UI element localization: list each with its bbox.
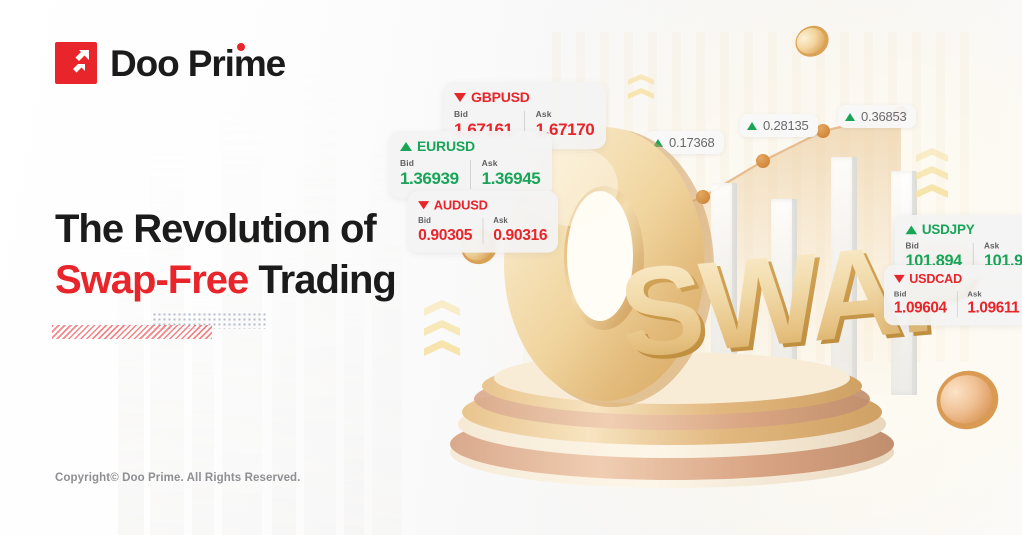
chart-value-pill: 0.36853 bbox=[838, 105, 916, 128]
bid-label: Bid bbox=[454, 109, 513, 120]
quote-bid: Bid 1.36939 bbox=[400, 158, 459, 189]
trend-down-icon bbox=[454, 93, 466, 102]
ask-value: 1.09611 bbox=[967, 299, 1019, 317]
chart-marker bbox=[816, 124, 830, 138]
bid-label: Bid bbox=[894, 289, 947, 299]
bid-value: 0.90305 bbox=[418, 226, 472, 244]
trend-up-icon bbox=[845, 113, 855, 121]
quote-symbol: GBPUSD bbox=[471, 89, 530, 105]
headline-highlight: Swap-Free bbox=[55, 258, 248, 302]
quote-card-eurusd[interactable]: EURUSD Bid 1.36939 Ask 1.36945 bbox=[389, 131, 552, 198]
logo-accent-dot bbox=[237, 43, 245, 51]
brand-name: Doo Prime bbox=[110, 43, 285, 84]
quote-ask: Ask 1.09611 bbox=[967, 289, 1019, 317]
quote-symbol-row: USDCAD bbox=[894, 271, 1019, 285]
chart-column bbox=[591, 203, 617, 395]
quote-symbol: EURUSD bbox=[417, 138, 475, 154]
ask-label: Ask bbox=[482, 158, 541, 169]
quote-symbol: USDJPY bbox=[922, 222, 975, 237]
headline-line-2: Swap-Free Trading bbox=[55, 257, 396, 304]
ask-label: Ask bbox=[984, 241, 1022, 252]
quote-prices: Bid 1.36939 Ask 1.36945 bbox=[400, 158, 540, 189]
chart-column bbox=[711, 183, 737, 395]
trend-up-icon bbox=[653, 139, 663, 147]
quote-symbol: USDCAD bbox=[909, 271, 962, 285]
quote-symbol-row: GBPUSD bbox=[454, 89, 594, 105]
copyright-text: Copyright© Doo Prime. All Rights Reserve… bbox=[55, 472, 300, 484]
quote-bid: Bid 0.90305 bbox=[418, 216, 472, 244]
brand-logo-text: Doo Prime bbox=[110, 45, 285, 82]
bid-value: 1.36939 bbox=[400, 169, 459, 189]
chart-column bbox=[651, 227, 677, 395]
quote-symbol: AUDUSD bbox=[434, 197, 488, 212]
ask-label: Ask bbox=[493, 216, 547, 226]
quote-card-usdcad[interactable]: USDCAD Bid 1.09604 Ask 1.09611 bbox=[884, 265, 1022, 325]
quote-bid: Bid 1.09604 bbox=[894, 289, 947, 317]
ask-value: 0.90316 bbox=[493, 226, 547, 244]
chevron-top-mid-icon bbox=[628, 74, 654, 99]
bid-label: Bid bbox=[400, 158, 459, 169]
ask-label: Ask bbox=[967, 289, 1019, 299]
chart-marker bbox=[636, 214, 650, 228]
chart-value-pill: 0.17368 bbox=[646, 131, 724, 154]
quote-ask: Ask 0.90316 bbox=[493, 216, 547, 244]
chart-value: 0.28135 bbox=[763, 118, 809, 133]
chevron-left-low-icon bbox=[424, 300, 460, 356]
doo-prime-mark-icon bbox=[55, 42, 97, 84]
chart-column bbox=[831, 157, 857, 395]
quote-prices: Bid 1.09604 Ask 1.09611 bbox=[894, 289, 1019, 317]
chart-value: 0.36853 bbox=[861, 109, 907, 124]
quote-prices: Bid 0.90305 Ask 0.90316 bbox=[418, 216, 547, 244]
stripe-pattern bbox=[52, 325, 212, 339]
chart-column bbox=[771, 199, 797, 395]
quote-divider bbox=[482, 218, 483, 244]
chart-value-pill: 0.28135 bbox=[740, 114, 818, 137]
ask-label: Ask bbox=[536, 109, 595, 120]
trend-up-icon bbox=[747, 122, 757, 130]
ask-value: 1.36945 bbox=[482, 169, 541, 189]
page-title: The Revolution of Swap-Free Trading bbox=[55, 206, 396, 304]
trend-down-icon bbox=[894, 274, 905, 282]
decorative-accent-bar bbox=[52, 312, 267, 346]
quote-divider bbox=[470, 160, 471, 189]
promo-banner: Doo Prime The Revolution of Swap-Free Tr… bbox=[0, 0, 1022, 535]
bid-value: 1.09604 bbox=[894, 299, 947, 317]
quote-symbol-row: EURUSD bbox=[400, 138, 540, 154]
chevron-right-icon bbox=[916, 148, 948, 198]
chart-marker bbox=[696, 190, 710, 204]
quote-card-audusd[interactable]: AUDUSD Bid 0.90305 Ask 0.90316 bbox=[408, 191, 558, 252]
bid-label: Bid bbox=[418, 216, 472, 226]
quote-divider bbox=[957, 291, 958, 317]
bid-label: Bid bbox=[906, 241, 962, 252]
quote-symbol-row: USDJPY bbox=[906, 222, 1022, 237]
trend-up-icon bbox=[906, 225, 918, 234]
chart-marker bbox=[516, 298, 530, 312]
chart-marker bbox=[756, 154, 770, 168]
trend-up-icon bbox=[400, 142, 412, 151]
quote-ask: Ask 1.36945 bbox=[482, 158, 541, 189]
chart-column bbox=[533, 245, 559, 395]
brand-logo: Doo Prime bbox=[55, 42, 285, 84]
chart-marker bbox=[576, 250, 590, 264]
trend-down-icon bbox=[418, 201, 429, 209]
headline-line-2-rest: Trading bbox=[248, 258, 396, 302]
chart-value: 0.17368 bbox=[669, 135, 715, 150]
headline-line-1: The Revolution of bbox=[55, 206, 396, 253]
quote-symbol-row: AUDUSD bbox=[418, 197, 547, 212]
